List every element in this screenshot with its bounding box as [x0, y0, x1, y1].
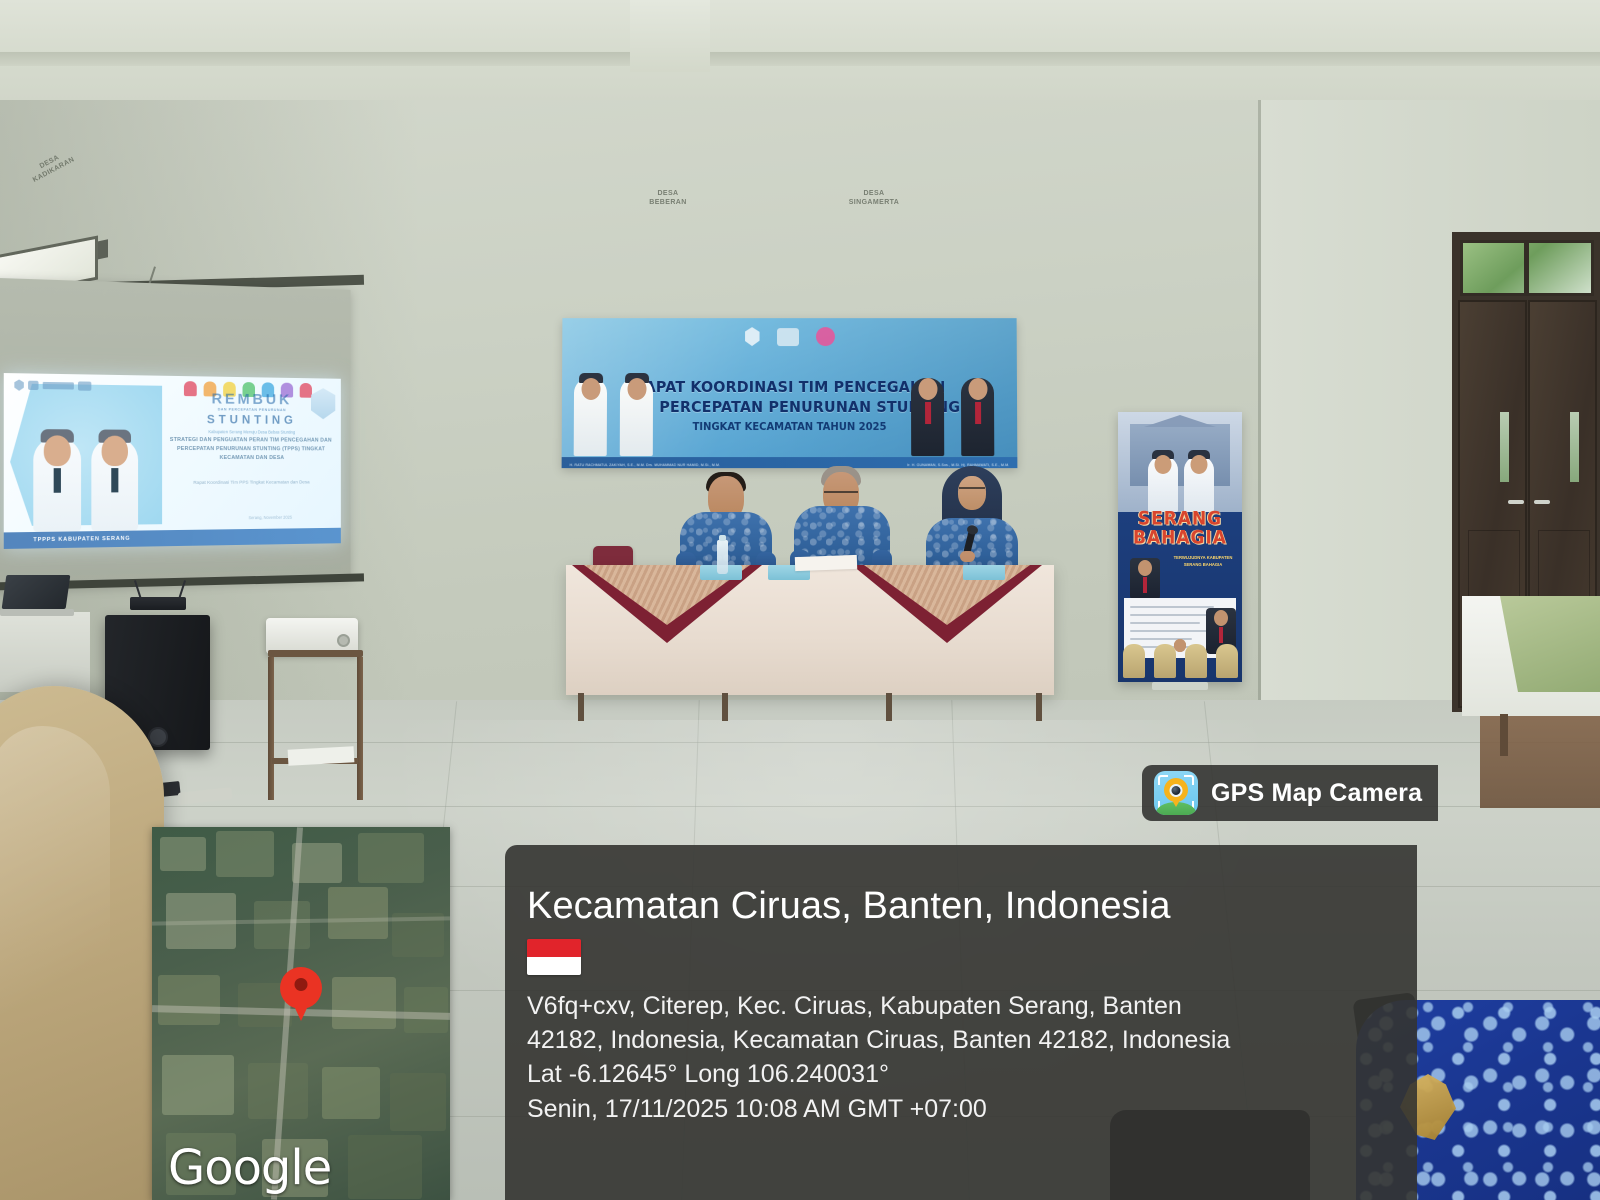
official-figure: [1184, 456, 1214, 512]
official-tie: [975, 402, 981, 424]
door-glass-lite: [1570, 412, 1579, 482]
staff-portrait: [1185, 644, 1207, 678]
map-feature: [158, 975, 220, 1025]
map-feature: [160, 837, 206, 871]
projector: [266, 618, 358, 654]
officer-tie: [111, 468, 118, 492]
water-bottle: [717, 540, 728, 574]
gps-map-camera-icon: [1154, 771, 1198, 815]
address-line-2: 42182, Indonesia, Kecamatan Ciruas, Bant…: [527, 1023, 1387, 1057]
official-head: [968, 378, 987, 400]
map-feature: [162, 1055, 234, 1115]
slide-date: Serang, November 2025: [208, 514, 332, 520]
official-head: [1191, 455, 1208, 474]
official-head: [1214, 610, 1228, 626]
wall-corner: [1258, 100, 1261, 740]
wall-label-singamerta: DESA SINGAMERTA: [842, 190, 906, 208]
stand-leg: [268, 657, 274, 800]
map-thumbnail[interactable]: Google: [152, 827, 450, 1200]
map-feature: [358, 833, 424, 883]
official-head: [581, 378, 600, 400]
camera-lens-icon: [1170, 784, 1183, 797]
indonesia-flag-icon: [527, 939, 581, 975]
laptop: [0, 575, 72, 617]
rollup-base: [1152, 682, 1208, 690]
slide-officer-figure: [33, 437, 81, 532]
door-glass-lite: [1500, 412, 1509, 482]
map-feature: [254, 901, 310, 949]
table-leg: [886, 693, 892, 721]
slide-logo-row: [14, 379, 91, 391]
mission-line: [1130, 606, 1214, 608]
gps-map-camera-photo: DESA KADIKARAN DESA BEBERAN DESA SINGAME…: [0, 0, 1600, 1200]
rollup-vision-text: TERWUJUDNYA KABUPATEN SERANG BAHAGIA: [1170, 554, 1236, 568]
official-head: [918, 378, 937, 400]
mission-line: [1130, 614, 1214, 616]
gps-map-camera-watermark: GPS Map Camera: [1142, 765, 1438, 821]
table-leg: [578, 693, 584, 721]
transom-mullion: [1524, 240, 1529, 296]
program-wordmark: [43, 382, 74, 390]
official-figure: [574, 378, 607, 456]
slide-body-text: STRATEGI DAN PENGUATAN PERAN TIM PENCEGA…: [166, 436, 335, 463]
ceiling-drop-panel: [630, 0, 710, 72]
map-feature: [216, 831, 274, 877]
map-feature: [322, 1067, 380, 1119]
wireless-mic-receiver: [130, 597, 186, 610]
staff-portrait: [1123, 644, 1145, 678]
app-name-label: GPS Map Camera: [1211, 779, 1422, 808]
projected-slide: REMBUK DAN PERCEPATAN PENURUNAN STUNTING…: [4, 373, 341, 549]
table-legs: [566, 693, 1054, 721]
google-watermark: Google: [168, 1140, 331, 1196]
official-head: [1138, 560, 1152, 576]
av-side-table: [0, 612, 90, 692]
address-line-1: V6fq+cxv, Citerep, Kec. Ciruas, Kabupate…: [527, 989, 1387, 1023]
laptop-lid: [2, 575, 71, 609]
official-figure: [911, 378, 944, 456]
table-leg: [1036, 693, 1042, 721]
slide-subtext: Rapat Koordinasi Tim PPS Tingkat Kecamat…: [166, 479, 335, 488]
ceiling-beam: [0, 52, 1600, 66]
official-figure: [620, 378, 653, 456]
mission-line: [1130, 622, 1200, 624]
door-handle[interactable]: [1508, 500, 1524, 504]
ministry-logo-icon: [777, 328, 799, 346]
banner-logo-row: [745, 327, 835, 346]
rollup-banner: SERANG BAHAGIA TERWUJUDNYA KABUPATEN SER…: [1118, 412, 1242, 682]
event-banner: RAPAT KOORDINASI TIM PENCEGAHAN DAN PERC…: [562, 318, 1018, 468]
eyeglasses-icon: [824, 491, 858, 498]
map-feature: [390, 1073, 446, 1131]
official-tie: [1143, 577, 1147, 593]
laptop-base: [0, 609, 74, 616]
official-figure: [1148, 456, 1178, 512]
timestamp-line: Senin, 17/11/2025 10:08 AM GMT +07:00: [527, 1092, 1387, 1126]
tablecloth-pattern: [852, 565, 1042, 643]
officer-tie: [54, 468, 61, 493]
stand-leg: [357, 657, 363, 800]
official-figure: [961, 378, 994, 456]
slide-heading: REMBUK DAN PERCEPATAN PENURUNAN STUNTING…: [168, 390, 333, 435]
officer-head: [44, 435, 71, 466]
banner-names-right: Ir. H. GUNAWAN, S.Sos., M.Si. Hj. RAHMAW…: [907, 463, 1009, 467]
regency-crest-icon: [745, 327, 760, 346]
slide-officer-figure: [91, 438, 138, 532]
location-title: Kecamatan Ciruas, Banten, Indonesia: [527, 887, 1387, 927]
hand: [960, 551, 975, 562]
bkkbn-logo-icon: [28, 381, 38, 390]
eyeglasses-icon: [959, 487, 985, 494]
banner-names-left: H. RATU RACHMATUL ZAKIYAH, S.E., M.M. Dr…: [570, 463, 721, 467]
location-details: V6fq+cxv, Citerep, Kec. Ciruas, Kabupate…: [527, 989, 1387, 1126]
map-feature: [328, 887, 388, 939]
projector-stand: [268, 650, 363, 800]
partner-logo-icon: [78, 381, 91, 390]
banner-officials-left: [568, 374, 666, 456]
rollup-header: [1118, 412, 1242, 512]
door-handle[interactable]: [1534, 500, 1550, 504]
table-leg: [1500, 714, 1508, 756]
regency-crest-icon: [14, 379, 23, 390]
banner-officials-right: [905, 374, 1013, 456]
map-feature: [404, 987, 448, 1033]
documents-on-table: [795, 555, 857, 571]
location-info-panel: Kecamatan Ciruas, Banten, Indonesia V6fq…: [505, 845, 1417, 1200]
officer-head: [102, 436, 128, 466]
official-head: [627, 378, 646, 400]
table-mic-base: [963, 565, 1005, 580]
government-building-graphic: [1130, 424, 1230, 486]
head-table: [566, 565, 1054, 695]
staff-portrait: [1216, 644, 1238, 678]
projector-lens-icon: [337, 634, 350, 647]
table-leg: [722, 693, 728, 721]
official-tie: [925, 402, 931, 424]
map-feature: [348, 1135, 422, 1199]
wall-label-beberan: DESA BEBERAN: [638, 190, 698, 208]
map-pin-icon: [280, 967, 322, 1009]
official-portrait: [1130, 558, 1160, 600]
map-feature: [332, 977, 396, 1029]
mission-line: [1130, 630, 1214, 632]
bkkbn-logo-icon: [815, 327, 834, 346]
official-head: [1155, 455, 1172, 474]
foreground-attendee-left: [0, 686, 164, 1200]
rollup-headline: SERANG BAHAGIA: [1118, 510, 1242, 547]
staff-head: [1174, 639, 1186, 652]
coordinates-line: Lat -6.12645° Long 106.240031°: [527, 1057, 1387, 1091]
staff-portrait: [1154, 644, 1176, 678]
rollup-staff-row: [1118, 638, 1242, 678]
stand-top: [268, 650, 363, 657]
